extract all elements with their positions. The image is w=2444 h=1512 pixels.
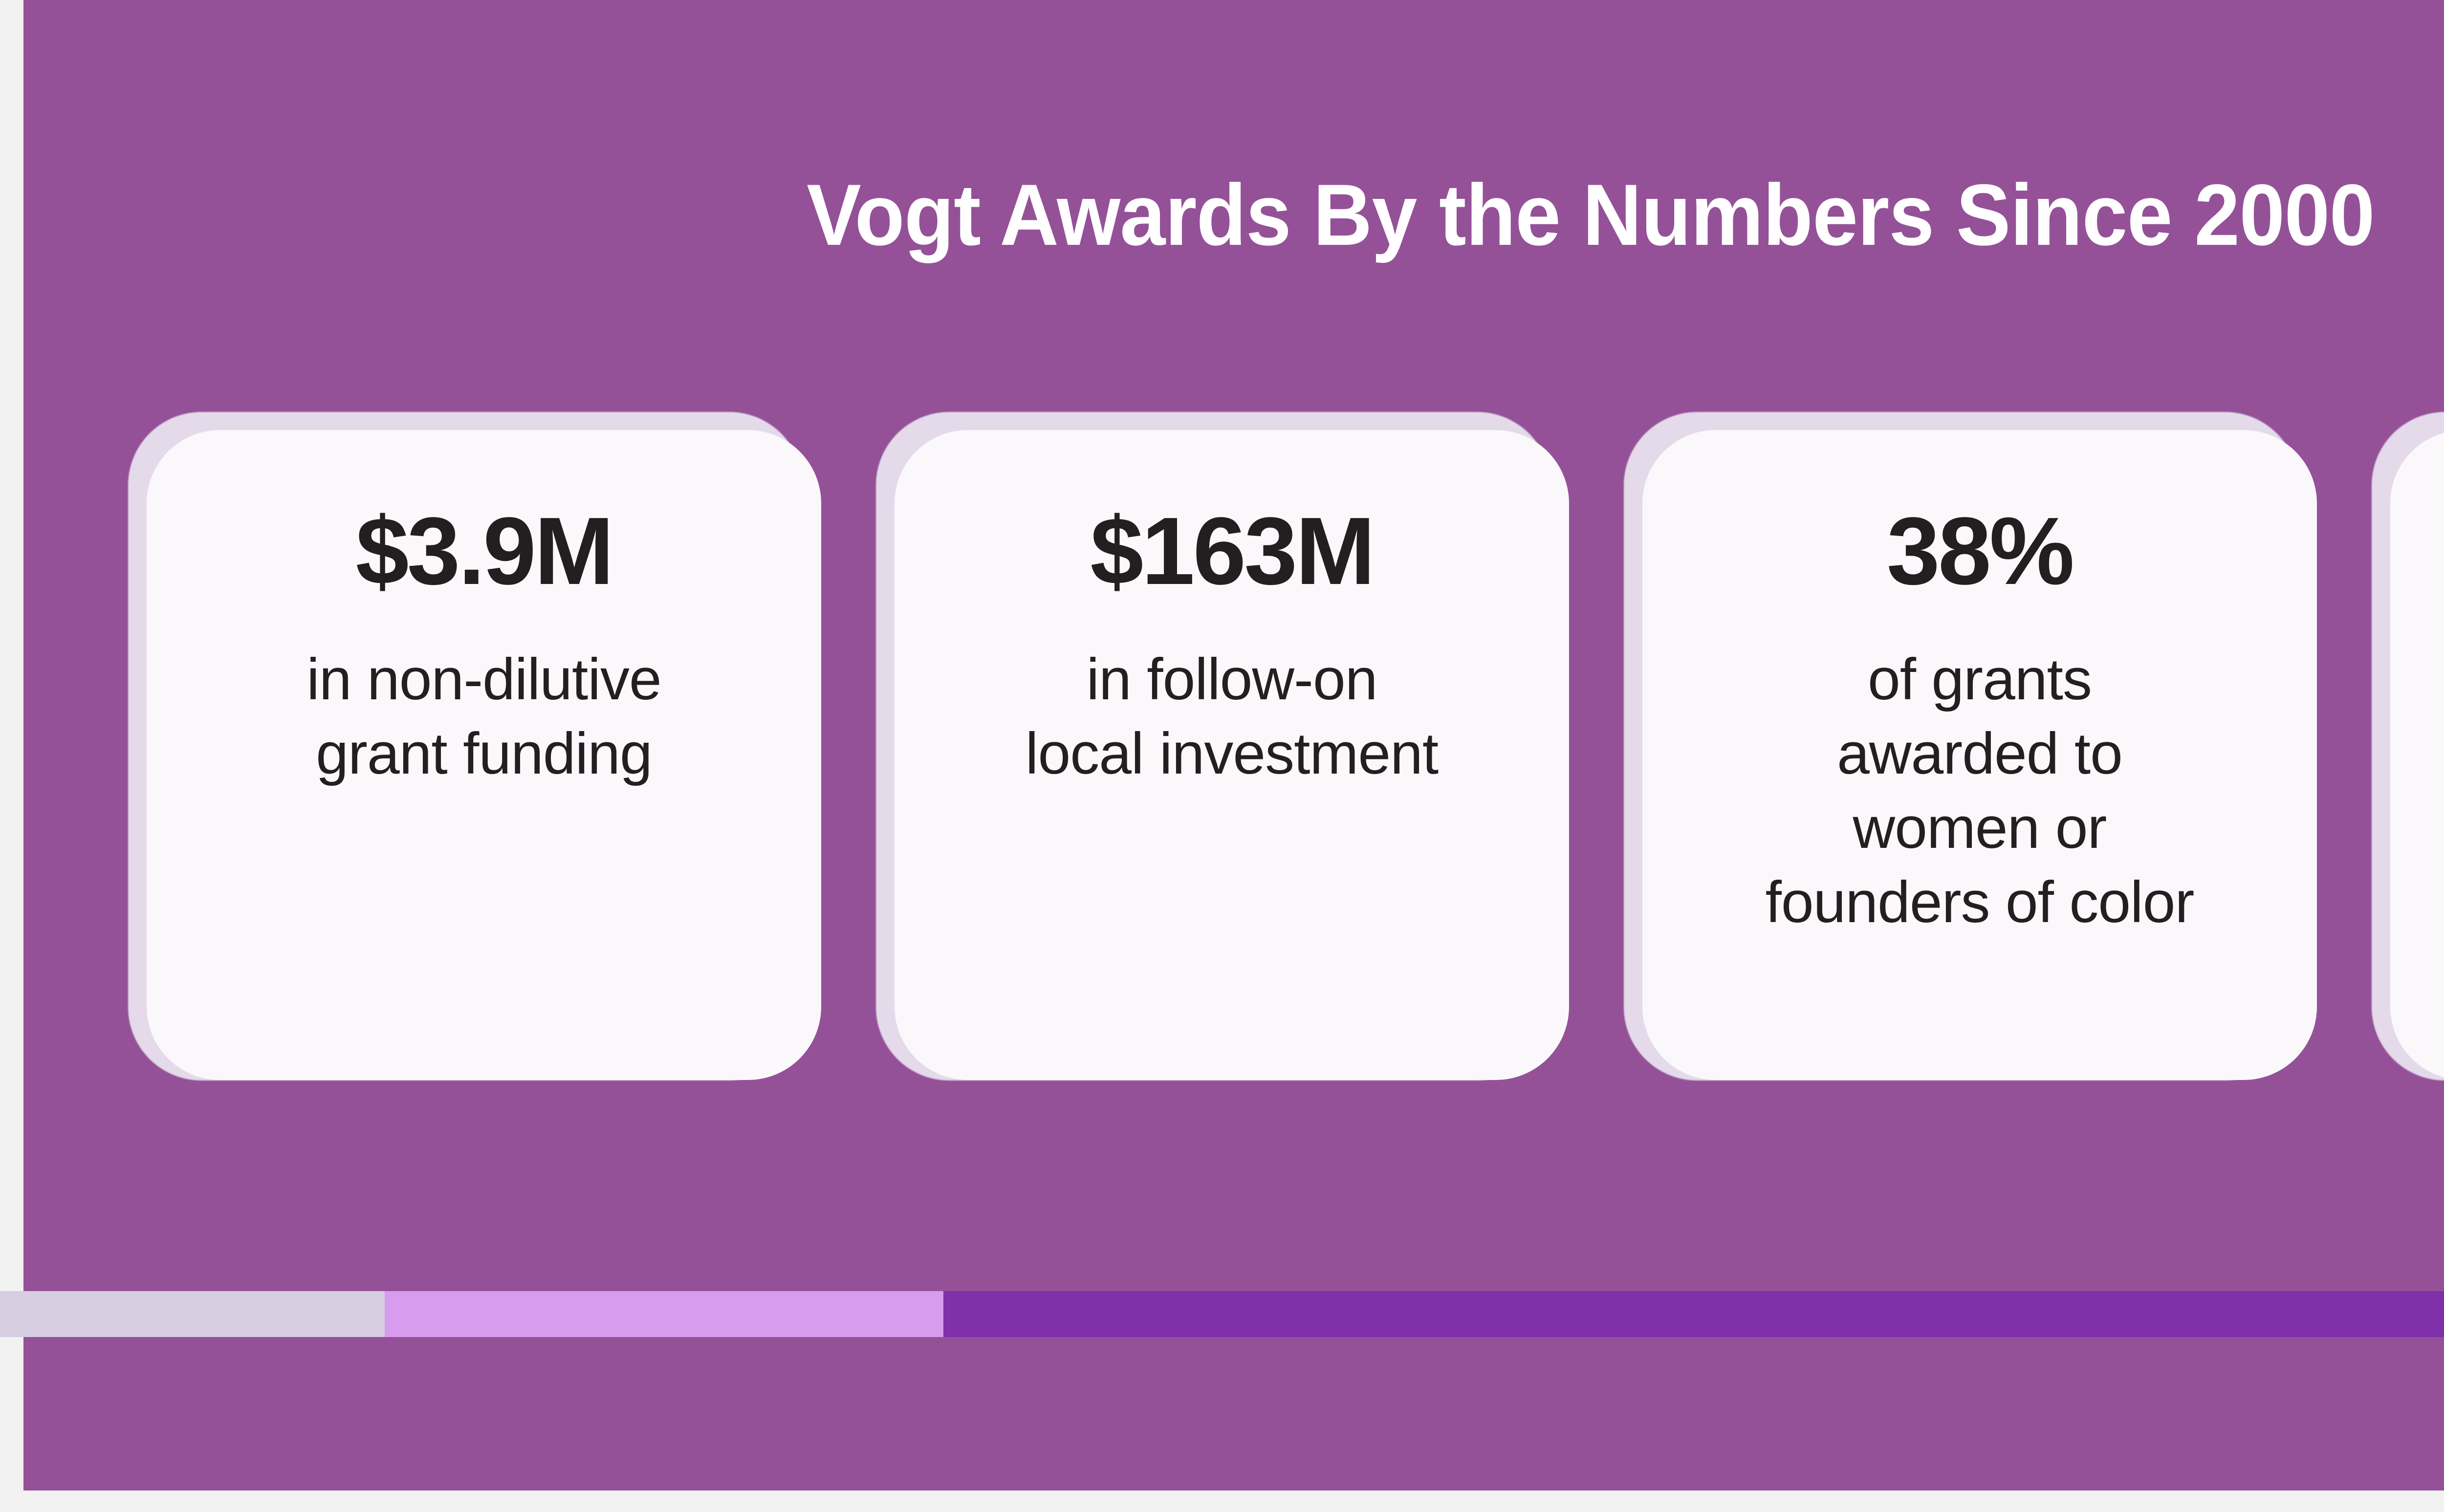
stat-card-4: 108 awards presented bbox=[2372, 412, 2444, 1096]
stat-card-1: $3.9M in non-dilutive grant funding bbox=[128, 412, 824, 1096]
stat-card-body-1: $3.9M in non-dilutive grant funding bbox=[147, 430, 821, 1080]
page-title: Vogt Awards By the Numbers Since 2000 bbox=[117, 166, 2444, 264]
stat-card-2: $163M in follow-on local investment bbox=[876, 412, 1572, 1096]
stat-label-3: of grants awarded to women or founders o… bbox=[1766, 642, 2194, 939]
stat-label-2: in follow-on local investment bbox=[1026, 642, 1438, 791]
stat-label-line: of grants bbox=[1766, 642, 2194, 716]
stat-label-line: awarded to bbox=[1766, 716, 2194, 791]
stat-label-line: grant funding bbox=[306, 716, 661, 791]
stat-card-3: 38% of grants awarded to women or founde… bbox=[1624, 412, 2320, 1096]
stat-label-line: local investment bbox=[1026, 716, 1438, 791]
segment-purple-mid bbox=[943, 1291, 2444, 1337]
infographic-canvas: Vogt Awards By the Numbers Since 2000 $3… bbox=[0, 0, 2444, 1512]
segment-lavender-pale bbox=[0, 1291, 385, 1337]
stats-card-row: $3.9M in non-dilutive grant funding $163… bbox=[128, 412, 2444, 1096]
stat-label-line: founders of color bbox=[1766, 865, 2194, 939]
stat-label-line: in non-dilutive bbox=[306, 642, 661, 716]
stat-label-1: in non-dilutive grant funding bbox=[306, 642, 661, 791]
stat-card-body-3: 38% of grants awarded to women or founde… bbox=[1642, 430, 2317, 1080]
stat-label-line: women or bbox=[1766, 791, 2194, 865]
bottom-color-bar bbox=[0, 1291, 2444, 1337]
stat-value-1: $3.9M bbox=[356, 502, 612, 600]
stat-card-body-4: 108 awards presented bbox=[2390, 430, 2444, 1080]
stat-card-body-2: $163M in follow-on local investment bbox=[895, 430, 1569, 1080]
stat-label-line: in follow-on bbox=[1026, 642, 1438, 716]
stat-value-3: 38% bbox=[1887, 502, 2073, 600]
segment-orchid-light bbox=[385, 1291, 943, 1337]
stat-value-2: $163M bbox=[1090, 502, 1373, 600]
